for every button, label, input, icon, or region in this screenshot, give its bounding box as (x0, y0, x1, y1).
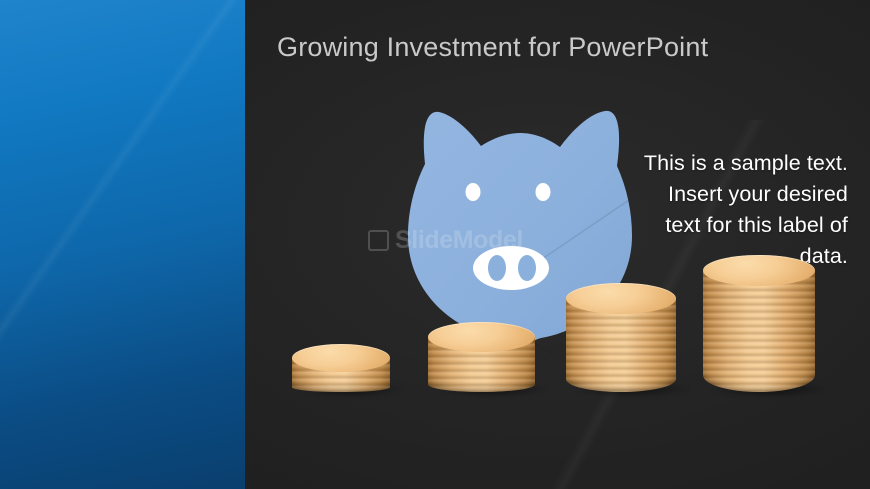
coin-stack-1 (292, 344, 390, 392)
coin-stack-3-top-disc (566, 283, 676, 314)
coin-stack-4-top-disc (703, 255, 815, 286)
coin-stack-1-top-disc (292, 344, 390, 372)
coin-stack-4-body (703, 271, 815, 392)
coin-stack-2 (428, 322, 535, 392)
coin-stack-3 (566, 283, 676, 392)
slide-canvas: This is a sample text. Insert your desir… (0, 0, 870, 489)
coin-stack-chart (0, 0, 870, 489)
coin-stack-2-top-disc (428, 322, 535, 352)
coin-stack-4 (703, 255, 815, 392)
page-title: Growing Investment for PowerPoint (277, 28, 708, 66)
